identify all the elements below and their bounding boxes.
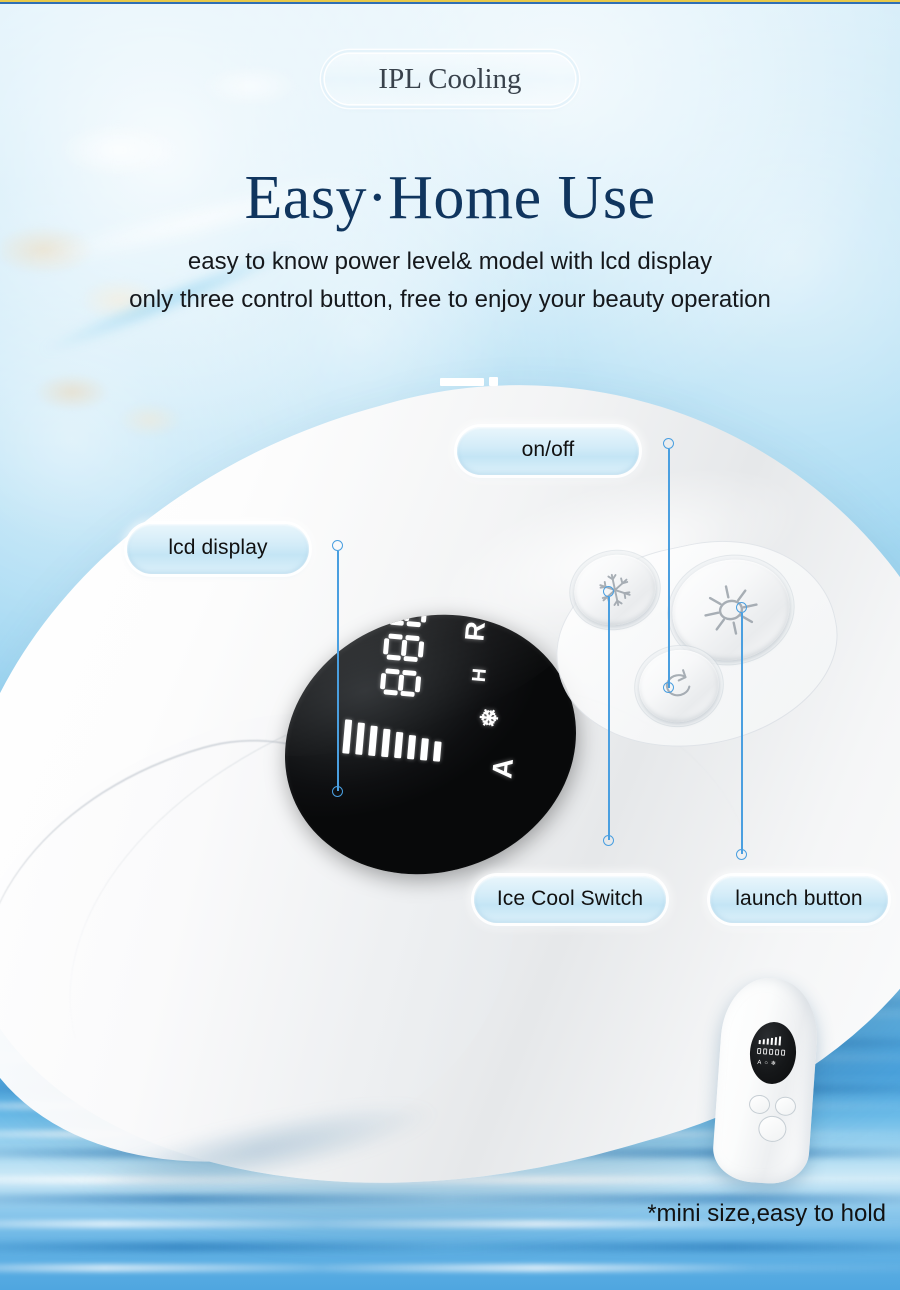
page-title: Easy·Home Use <box>0 163 900 234</box>
mini-power-button <box>774 1096 796 1116</box>
lcd-mode-a-icon: A <box>486 757 520 780</box>
mini-device-illustration: A○❄ <box>718 978 814 1183</box>
lcd-snowflake-icon: ❄ <box>478 707 504 729</box>
mini-launch-button <box>758 1115 788 1143</box>
power-cycle-icon <box>654 662 703 710</box>
mini-device-caption: *mini size,easy to hold <box>0 1200 886 1228</box>
subtitle-line-2: only three control button, free to enjoy… <box>0 286 900 314</box>
callout-lcd-display-label: lcd display <box>168 536 267 560</box>
divider-mark <box>440 378 484 386</box>
callout-launch-button[interactable]: launch button <box>710 876 888 923</box>
mini-lcd-indicators: A○❄ <box>757 1060 776 1067</box>
callout-ice-cool-switch[interactable]: Ice Cool Switch <box>474 876 666 923</box>
lcd-level-gauge <box>342 719 443 761</box>
callout-on-off[interactable]: on/off <box>457 427 639 475</box>
callout-launch-button-label: launch button <box>735 887 862 911</box>
flash-burst-icon <box>693 575 770 645</box>
mini-lcd-level-gauge <box>759 1035 782 1046</box>
mini-snowflake-button <box>748 1094 770 1114</box>
subtitle-line-1: easy to know power level& model with lcd… <box>0 248 900 276</box>
top-rule <box>0 0 900 4</box>
mini-lcd-digits <box>757 1048 785 1056</box>
product-badge: IPL Cooling <box>325 54 575 104</box>
callout-on-off-label: on/off <box>522 438 575 462</box>
snowflake-icon <box>589 566 640 614</box>
lcd-mode-h-icon: H <box>469 667 492 683</box>
lcd-mode-r-icon: R <box>459 620 492 642</box>
callout-ice-cool-switch-label: Ice Cool Switch <box>497 887 643 911</box>
infographic-canvas: R H ❄ A <box>0 0 900 1290</box>
lcd-digit <box>379 668 421 697</box>
callout-lcd-display[interactable]: lcd display <box>127 524 309 574</box>
lcd-digit <box>383 633 425 662</box>
divider-mark-square <box>489 377 498 386</box>
product-badge-label: IPL Cooling <box>378 63 521 96</box>
mini-device-buttons <box>746 1094 801 1146</box>
